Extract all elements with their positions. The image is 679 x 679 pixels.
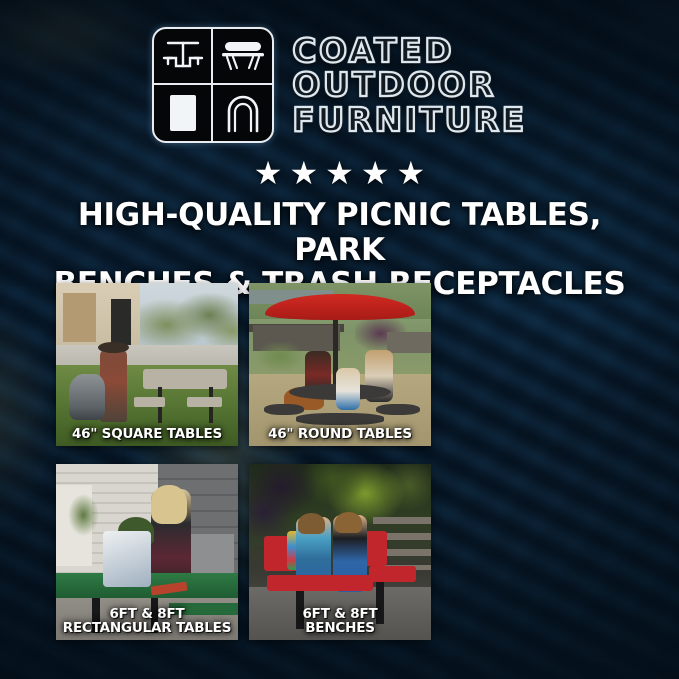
product-grid: 46" SQUARE TABLES (56, 283, 625, 640)
product-tile-benches[interactable]: 6FT & 8FT BENCHES (249, 464, 431, 640)
picnic-table-icon (154, 29, 213, 85)
brand-name: COATED OUTDOOR FURNITURE (292, 34, 526, 137)
product-tile-square-tables[interactable]: 46" SQUARE TABLES (56, 283, 238, 446)
star-icon-1: ★ (254, 157, 283, 189)
banner-content: COATED OUTDOOR FURNITURE ★ ★ ★ ★ ★ HIGH-… (0, 0, 679, 679)
bench-icon (213, 29, 272, 85)
logo-mark (152, 27, 274, 143)
brand-logo: COATED OUTDOOR FURNITURE (0, 24, 679, 146)
product-caption: 46" SQUARE TABLES (56, 427, 238, 442)
star-icon-5: ★ (397, 157, 426, 189)
trash-receptacle-icon (154, 85, 213, 141)
star-icon-2: ★ (289, 157, 318, 189)
product-tile-rectangular-tables[interactable]: 6FT & 8FT RECTANGULAR TABLES (56, 464, 238, 640)
product-image-square-tables (56, 283, 238, 446)
product-caption: 6FT & 8FT RECTANGULAR TABLES (56, 607, 238, 636)
brand-name-line-1: COATED (292, 34, 526, 68)
brand-name-line-2: OUTDOOR (292, 68, 526, 102)
product-caption: 6FT & 8FT BENCHES (249, 607, 431, 636)
star-icon-4: ★ (361, 157, 390, 189)
promo-banner: COATED OUTDOOR FURNITURE ★ ★ ★ ★ ★ HIGH-… (0, 0, 679, 679)
product-tile-round-tables[interactable]: 46" ROUND TABLES (249, 283, 431, 446)
product-caption: 46" ROUND TABLES (249, 427, 431, 442)
product-image-round-tables (249, 283, 431, 446)
bike-rack-icon (213, 85, 272, 141)
star-icon-3: ★ (325, 157, 354, 189)
star-rating: ★ ★ ★ ★ ★ (0, 156, 679, 190)
brand-name-line-3: FURNITURE (292, 103, 526, 137)
